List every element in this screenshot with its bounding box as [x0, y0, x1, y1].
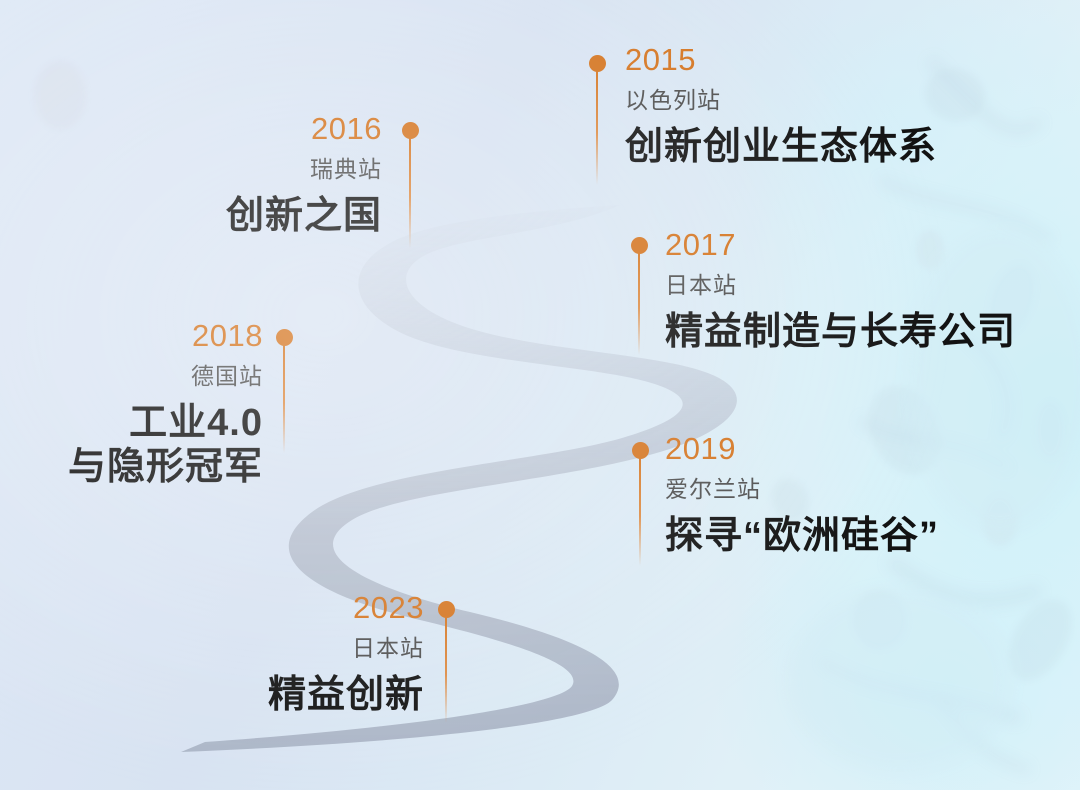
background-highlight — [0, 0, 1080, 790]
infographic-canvas: 2015 以色列站 创新创业生态体系 2016 瑞典站 创新之国 2017 日本… — [0, 0, 1080, 790]
